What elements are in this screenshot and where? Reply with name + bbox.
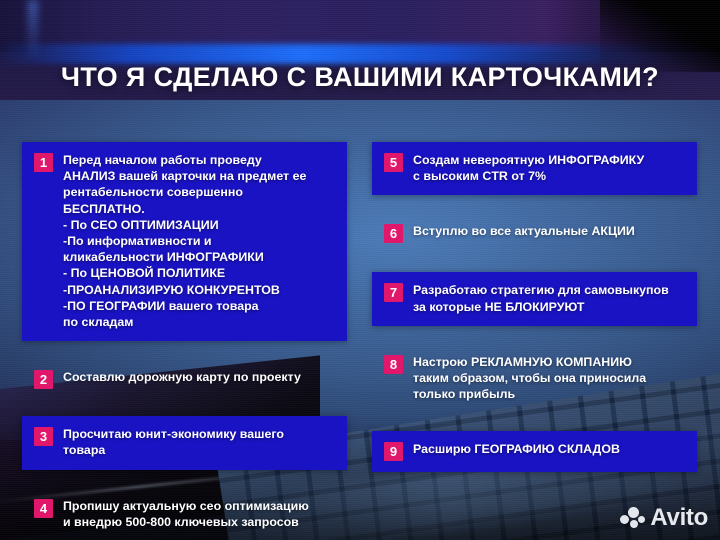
item-text: Перед началом работы проведу АНАЛИЗ ваше… <box>63 152 306 330</box>
item-number-badge: 4 <box>34 499 53 518</box>
item-text: Настрою РЕКЛАМНУЮ КОМПАНИЮ таким образом… <box>413 354 646 403</box>
item-number-badge: 5 <box>384 153 403 172</box>
list-item: 5Создам невероятную ИНФОГРАФИКУ с высоки… <box>372 142 697 195</box>
list-item: 8Настрою РЕКЛАМНУЮ КОМПАНИЮ таким образо… <box>372 344 697 414</box>
item-number-badge: 1 <box>34 153 53 172</box>
item-text: Пропишу актуальную сео оптимизацию и вне… <box>63 498 309 530</box>
item-text: Расширю ГЕОГРАФИЮ СКЛАДОВ <box>413 441 620 457</box>
item-text: Создам невероятную ИНФОГРАФИКУ с высоким… <box>413 152 644 184</box>
item-number-badge: 6 <box>384 224 403 243</box>
right-column: 5Создам невероятную ИНФОГРАФИКУ с высоки… <box>372 142 697 472</box>
item-number-badge: 8 <box>384 355 403 374</box>
item-text: Просчитаю юнит-экономику вашего товара <box>63 426 284 458</box>
list-item: 7Разработаю стратегию для самовыкупов за… <box>372 272 697 325</box>
item-number-badge: 2 <box>34 370 53 389</box>
item-text: Составлю дорожную карту по проекту <box>63 369 301 385</box>
avito-brand-label: Avito <box>650 506 708 530</box>
left-column: 1Перед началом работы проведу АНАЛИЗ ваш… <box>22 142 347 540</box>
item-text: Разработаю стратегию для самовыкупов за … <box>413 282 669 314</box>
list-item: 6Вступлю во все актуальные АКЦИИ <box>372 213 697 254</box>
list-item: 9Расширю ГЕОГРАФИЮ СКЛАДОВ <box>372 431 697 472</box>
item-number-badge: 9 <box>384 442 403 461</box>
item-number-badge: 3 <box>34 427 53 446</box>
page-title: ЧТО Я СДЕЛАЮ С ВАШИМИ КАРТОЧКАМИ? <box>0 62 720 93</box>
list-item: 1Перед началом работы проведу АНАЛИЗ ваш… <box>22 142 347 341</box>
list-item: 4Пропишу актуальную сео оптимизацию и вн… <box>22 488 347 540</box>
list-item: 3Просчитаю юнит-экономику вашего товара <box>22 416 347 469</box>
background-light-streak <box>28 0 38 60</box>
item-number-badge: 7 <box>384 283 403 302</box>
list-item: 2Составлю дорожную карту по проекту <box>22 359 347 400</box>
avito-dots-icon <box>620 507 645 529</box>
avito-watermark: Avito <box>620 506 708 530</box>
item-text: Вступлю во все актуальные АКЦИИ <box>413 223 635 239</box>
promo-slide: ЧТО Я СДЕЛАЮ С ВАШИМИ КАРТОЧКАМИ? 1Перед… <box>0 0 720 540</box>
